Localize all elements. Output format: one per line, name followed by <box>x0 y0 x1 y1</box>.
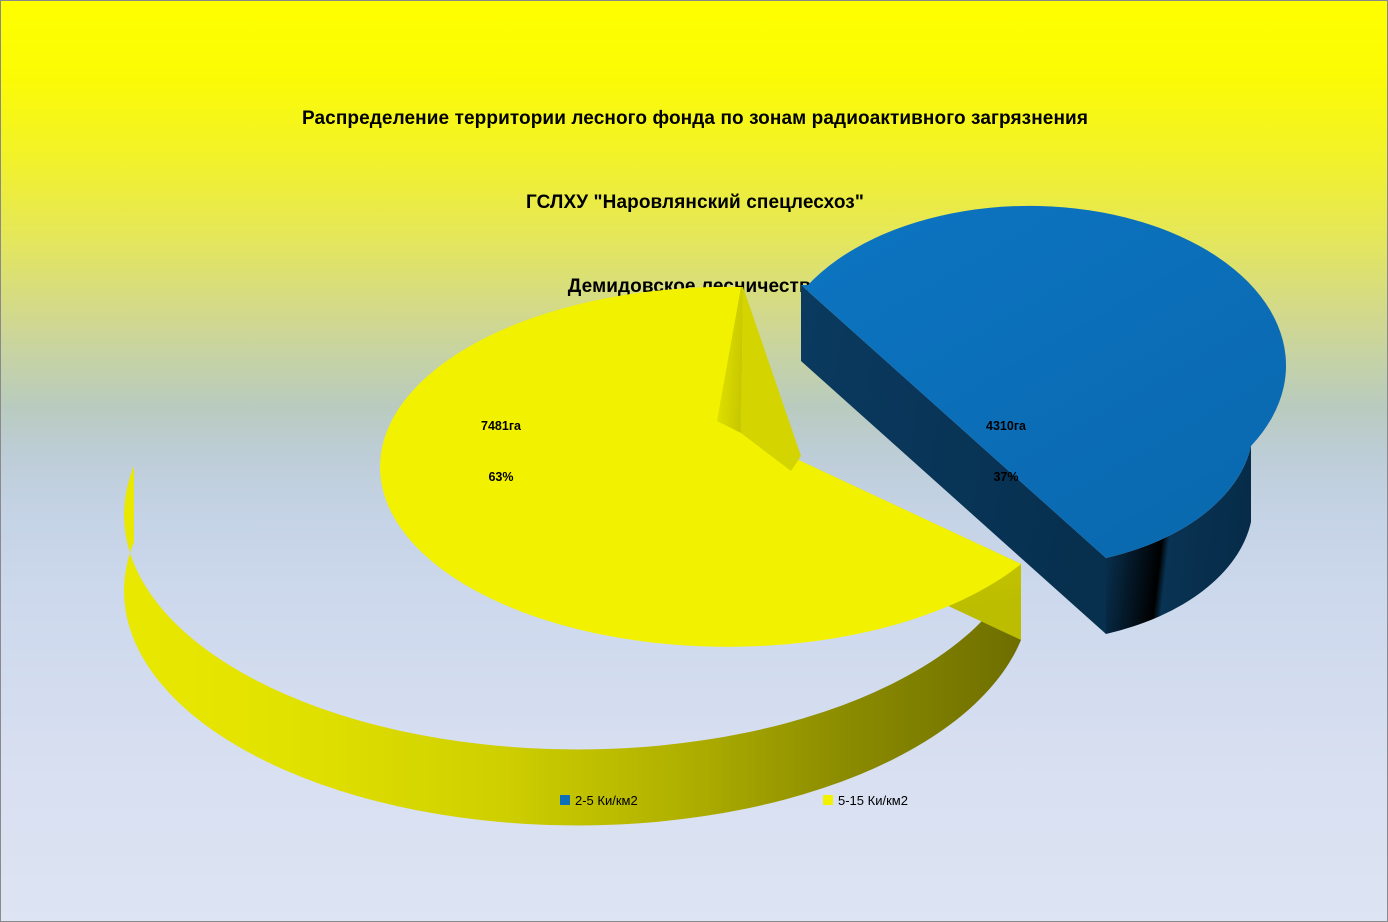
legend-label-5-15: 5-15 Ки/км2 <box>838 793 908 808</box>
legend-swatch-blue <box>560 795 570 805</box>
pie-chart-graphic <box>1 1 1388 922</box>
legend-item-2-5[interactable]: 2-5 Ки/км2 <box>560 790 638 810</box>
legend-label-2-5: 2-5 Ки/км2 <box>575 793 638 808</box>
legend-swatch-yellow <box>823 795 833 805</box>
legend-item-5-15[interactable]: 5-15 Ки/км2 <box>823 790 908 810</box>
chart-legend: 2-5 Ки/км2 5-15 Ки/км2 <box>541 790 961 814</box>
chart-canvas: Распределение территории лесного фонда п… <box>0 0 1388 922</box>
